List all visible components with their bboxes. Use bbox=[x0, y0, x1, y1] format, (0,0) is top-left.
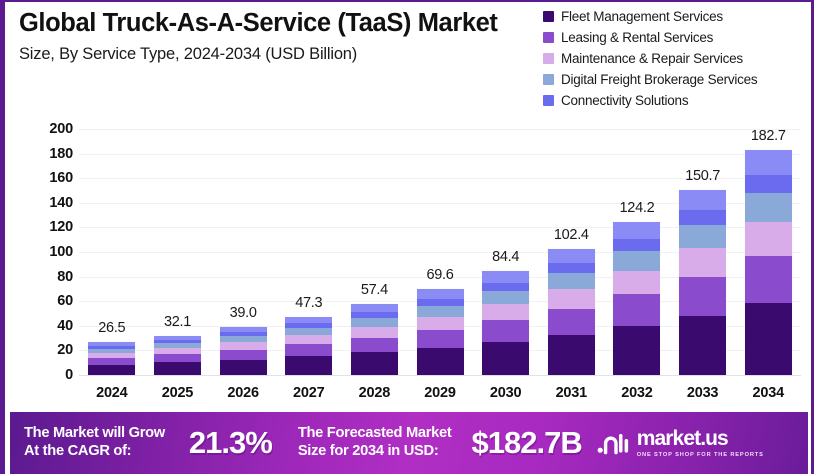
legend-swatch-icon bbox=[543, 74, 554, 85]
cagr-caption: The Market will Grow At the CAGR of: bbox=[24, 425, 165, 461]
x-axis-tick-label: 2025 bbox=[145, 385, 211, 401]
bar-column[interactable]: 69.6 bbox=[407, 110, 473, 375]
y-axis-tick-label: 200 bbox=[19, 121, 73, 137]
brand-tagline: ONE STOP SHOP FOR THE REPORTS bbox=[637, 452, 764, 458]
bar-segment[interactable] bbox=[745, 222, 792, 257]
legend-item[interactable]: Connectivity Solutions bbox=[543, 91, 805, 110]
x-axis-tick-label: 2028 bbox=[342, 385, 408, 401]
bar-segment[interactable] bbox=[220, 350, 267, 360]
footer-banner: The Market will Grow At the CAGR of: 21.… bbox=[10, 412, 808, 474]
brand-name: market.us bbox=[637, 428, 764, 449]
bar-column[interactable]: 39.0 bbox=[210, 110, 276, 375]
chart-header: Global Truck-As-A-Service (TaaS) Market … bbox=[15, 4, 560, 108]
bar-segment[interactable] bbox=[745, 175, 792, 193]
bar-segment[interactable] bbox=[613, 294, 660, 326]
bar-segment[interactable] bbox=[548, 289, 595, 309]
bar-segment[interactable] bbox=[351, 327, 398, 338]
stacked-bar[interactable] bbox=[679, 190, 726, 375]
y-axis-tick-label: 0 bbox=[19, 367, 73, 383]
x-axis-tick-label: 2024 bbox=[79, 385, 145, 401]
bar-value-label: 47.3 bbox=[276, 295, 342, 311]
bar-segment[interactable] bbox=[88, 365, 135, 375]
bar-segment[interactable] bbox=[417, 299, 464, 306]
stacked-bar[interactable] bbox=[88, 342, 135, 375]
legend-item-label: Digital Freight Brokerage Services bbox=[561, 72, 757, 87]
cagr-caption-line1: The Market will Grow bbox=[24, 425, 165, 443]
bar-segment[interactable] bbox=[679, 248, 726, 277]
bar-value-label: 102.4 bbox=[538, 227, 604, 243]
bar-segment[interactable] bbox=[613, 251, 660, 271]
bar-segment[interactable] bbox=[351, 352, 398, 375]
stacked-bar[interactable] bbox=[417, 289, 464, 375]
bar-segment[interactable] bbox=[482, 342, 529, 375]
bar-segment[interactable] bbox=[613, 326, 660, 375]
bar-column[interactable]: 102.4 bbox=[538, 110, 604, 375]
cagr-value: 21.3% bbox=[189, 425, 272, 461]
y-axis-tick-label: 40 bbox=[19, 318, 73, 334]
bar-segment[interactable] bbox=[351, 318, 398, 327]
bar-segment[interactable] bbox=[679, 210, 726, 224]
chart-subtitle: Size, By Service Type, 2024-2034 (USD Bi… bbox=[19, 45, 560, 64]
y-axis: 020406080100120140160180200 bbox=[19, 110, 73, 376]
legend-item[interactable]: Maintenance & Repair Services bbox=[543, 49, 805, 68]
bar-segment[interactable] bbox=[285, 356, 332, 375]
bar-segment[interactable] bbox=[548, 263, 595, 273]
stacked-bar[interactable] bbox=[220, 327, 267, 375]
bar-column[interactable]: 150.7 bbox=[670, 110, 736, 375]
bar-value-label: 69.6 bbox=[407, 267, 473, 283]
stacked-bar[interactable] bbox=[745, 150, 792, 375]
x-axis-tick-label: 2034 bbox=[735, 385, 801, 401]
bar-column[interactable]: 32.1 bbox=[145, 110, 211, 375]
x-axis: 2024202520262027202820292030203120322033… bbox=[79, 378, 801, 408]
brand-text: market.us ONE STOP SHOP FOR THE REPORTS bbox=[637, 428, 764, 458]
bar-segment[interactable] bbox=[220, 342, 267, 349]
bar-segment[interactable] bbox=[548, 335, 595, 375]
bar-segment[interactable] bbox=[745, 150, 792, 175]
bar-segment[interactable] bbox=[679, 316, 726, 375]
bar-segment[interactable] bbox=[745, 256, 792, 303]
bar-segment[interactable] bbox=[417, 348, 464, 375]
x-axis-tick-label: 2032 bbox=[604, 385, 670, 401]
chart-infographic: Global Truck-As-A-Service (TaaS) Market … bbox=[0, 0, 814, 474]
stacked-bar[interactable] bbox=[482, 271, 529, 375]
y-axis-tick-label: 80 bbox=[19, 269, 73, 285]
stacked-bar[interactable] bbox=[285, 317, 332, 375]
legend-swatch-icon bbox=[543, 11, 554, 22]
bar-segment[interactable] bbox=[548, 309, 595, 335]
bar-segment[interactable] bbox=[482, 271, 529, 283]
forecast-value: $182.7B bbox=[472, 425, 582, 461]
x-axis-tick-label: 2031 bbox=[538, 385, 604, 401]
bar-segment[interactable] bbox=[613, 222, 660, 239]
bar-segment[interactable] bbox=[613, 239, 660, 251]
bar-segment[interactable] bbox=[88, 358, 135, 365]
bar-segment[interactable] bbox=[154, 354, 201, 362]
bar-column[interactable]: 182.7 bbox=[735, 110, 801, 375]
page-title: Global Truck-As-A-Service (TaaS) Market bbox=[19, 10, 560, 37]
forecast-caption-line2: Size for 2034 in USD: bbox=[298, 443, 452, 461]
y-axis-tick-label: 60 bbox=[19, 293, 73, 309]
y-axis-tick-label: 180 bbox=[19, 146, 73, 162]
axis-baseline bbox=[79, 375, 801, 376]
bar-column[interactable]: 124.2 bbox=[604, 110, 670, 375]
chart-legend: Fleet Management ServicesLeasing & Renta… bbox=[543, 4, 805, 110]
bar-segment[interactable] bbox=[417, 306, 464, 317]
bar-column[interactable]: 47.3 bbox=[276, 110, 342, 375]
bar-value-label: 32.1 bbox=[145, 314, 211, 330]
bar-segment[interactable] bbox=[417, 330, 464, 348]
bar-segment[interactable] bbox=[679, 190, 726, 211]
bar-column[interactable]: 84.4 bbox=[473, 110, 539, 375]
bar-segment[interactable] bbox=[745, 303, 792, 375]
legend-item[interactable]: Digital Freight Brokerage Services bbox=[543, 70, 805, 89]
bar-value-label: 182.7 bbox=[735, 128, 801, 144]
bar-segment[interactable] bbox=[154, 362, 201, 375]
stacked-bar[interactable] bbox=[613, 222, 660, 375]
y-axis-tick-label: 20 bbox=[19, 342, 73, 358]
bar-segment[interactable] bbox=[548, 249, 595, 263]
legend-item-label: Fleet Management Services bbox=[561, 9, 723, 24]
stacked-bar[interactable] bbox=[351, 304, 398, 375]
bar-series-group: 26.532.139.047.357.469.684.4102.4124.215… bbox=[79, 110, 801, 375]
bar-segment[interactable] bbox=[285, 344, 332, 356]
bar-segment[interactable] bbox=[745, 193, 792, 222]
market-us-logo-icon bbox=[596, 430, 630, 456]
bar-value-label: 39.0 bbox=[210, 305, 276, 321]
y-axis-tick-label: 120 bbox=[19, 219, 73, 235]
bar-segment[interactable] bbox=[351, 338, 398, 353]
bar-value-label: 84.4 bbox=[473, 249, 539, 265]
stacked-bar[interactable] bbox=[548, 249, 595, 375]
bar-column[interactable]: 57.4 bbox=[342, 110, 408, 375]
forecast-caption-line1: The Forecasted Market bbox=[298, 425, 452, 443]
bar-segment[interactable] bbox=[417, 289, 464, 299]
plot-area: 020406080100120140160180200 26.532.139.0… bbox=[5, 110, 811, 410]
legend-swatch-icon bbox=[543, 32, 554, 43]
legend-item-label: Connectivity Solutions bbox=[561, 93, 688, 108]
legend-item[interactable]: Leasing & Rental Services bbox=[543, 28, 805, 47]
bar-value-label: 26.5 bbox=[79, 320, 145, 336]
bar-segment[interactable] bbox=[482, 291, 529, 304]
bar-segment[interactable] bbox=[679, 225, 726, 249]
x-axis-tick-label: 2030 bbox=[473, 385, 539, 401]
brand-logo[interactable]: market.us ONE STOP SHOP FOR THE REPORTS bbox=[596, 428, 764, 458]
bar-segment[interactable] bbox=[220, 360, 267, 375]
x-axis-tick-label: 2026 bbox=[210, 385, 276, 401]
bar-segment[interactable] bbox=[351, 304, 398, 312]
legend-swatch-icon bbox=[543, 53, 554, 64]
x-axis-tick-label: 2029 bbox=[407, 385, 473, 401]
legend-item[interactable]: Fleet Management Services bbox=[543, 7, 805, 26]
cagr-caption-line2: At the CAGR of: bbox=[24, 443, 165, 461]
bar-value-label: 57.4 bbox=[342, 282, 408, 298]
legend-item-label: Leasing & Rental Services bbox=[561, 30, 713, 45]
legend-item-label: Maintenance & Repair Services bbox=[561, 51, 743, 66]
bar-segment[interactable] bbox=[482, 304, 529, 320]
bar-value-label: 124.2 bbox=[604, 200, 670, 216]
y-axis-tick-label: 160 bbox=[19, 170, 73, 186]
x-axis-tick-label: 2027 bbox=[276, 385, 342, 401]
bar-segment[interactable] bbox=[613, 271, 660, 295]
bar-segment[interactable] bbox=[679, 277, 726, 316]
x-axis-tick-label: 2033 bbox=[670, 385, 736, 401]
bar-segment[interactable] bbox=[285, 328, 332, 335]
stacked-bar[interactable] bbox=[154, 336, 201, 375]
forecast-caption: The Forecasted Market Size for 2034 in U… bbox=[298, 425, 452, 461]
bar-segment[interactable] bbox=[417, 317, 464, 330]
bar-column[interactable]: 26.5 bbox=[79, 110, 145, 375]
bar-segment[interactable] bbox=[482, 320, 529, 342]
y-axis-tick-label: 140 bbox=[19, 195, 73, 211]
bar-segment[interactable] bbox=[285, 335, 332, 344]
bar-segment[interactable] bbox=[548, 273, 595, 289]
legend-swatch-icon bbox=[543, 95, 554, 106]
bar-value-label: 150.7 bbox=[670, 168, 736, 184]
y-axis-tick-label: 100 bbox=[19, 244, 73, 260]
bar-segment[interactable] bbox=[482, 283, 529, 291]
